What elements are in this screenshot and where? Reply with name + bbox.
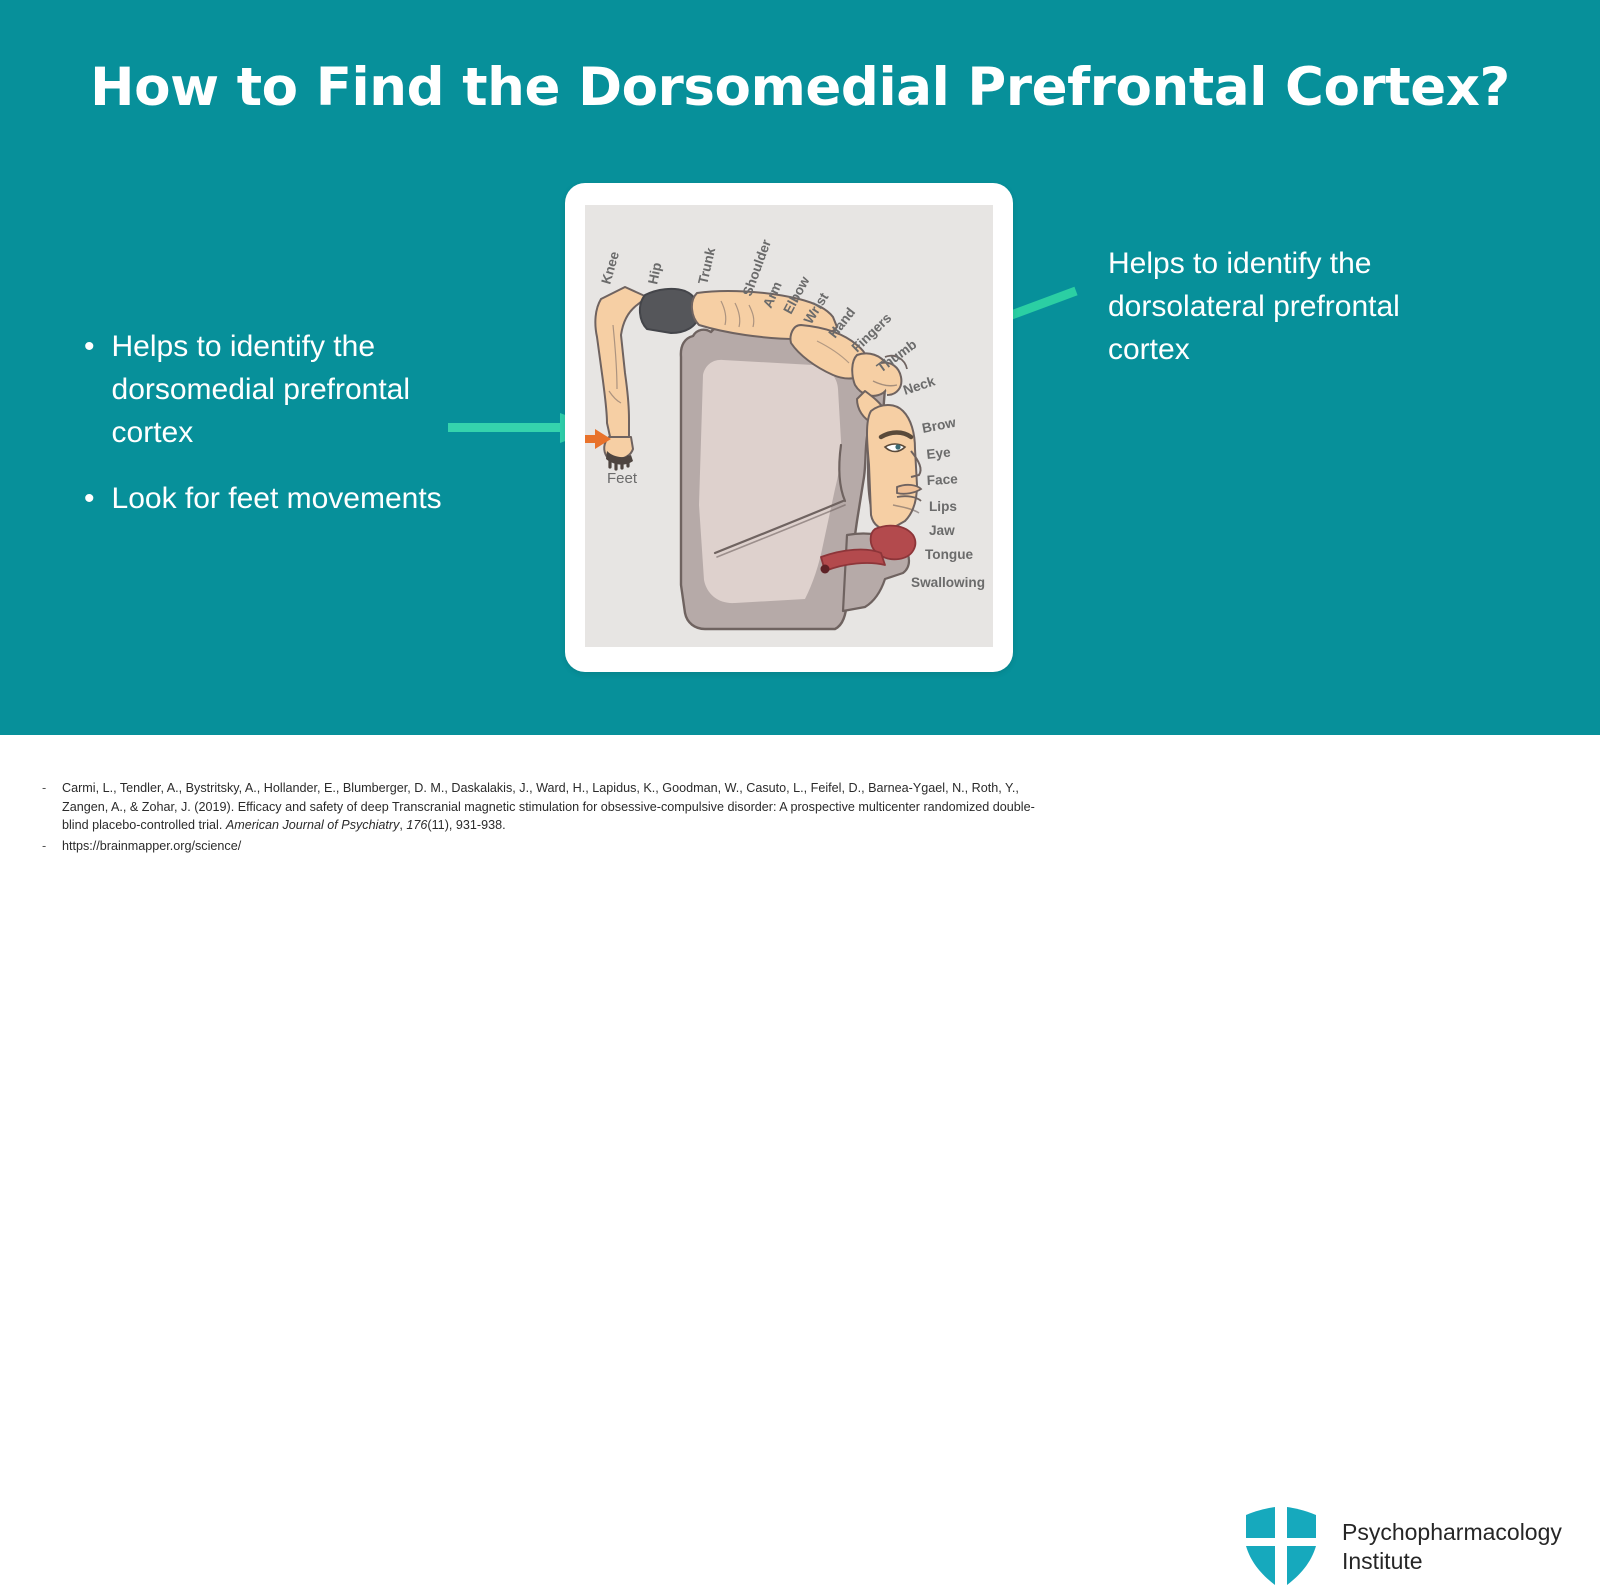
references-block: - Carmi, L., Tendler, A., Bystritsky, A.… — [42, 779, 1052, 858]
label-lips: Lips — [929, 499, 957, 514]
list-item: • Look for feet movements — [84, 477, 484, 520]
label-feet: Feet — [607, 470, 638, 487]
bullet-icon: • — [84, 477, 95, 520]
citation-volume: 176 — [406, 818, 427, 832]
slide-root: How to Find the Dorsomedial Prefrontal C… — [0, 0, 1600, 899]
label-swallowing: Swallowing — [911, 575, 985, 590]
reference-item: - https://brainmapper.org/science/ — [42, 837, 1052, 856]
bullet-text: Look for feet movements — [112, 477, 484, 520]
reference-dash: - — [42, 779, 52, 835]
label-jaw: Jaw — [929, 523, 955, 538]
brand-name: Psychopharmacology Institute — [1342, 1518, 1562, 1577]
figure-card: Knee Hip Trunk Shoulder Arm Elbow Wrist … — [565, 183, 1013, 672]
list-item: • Helps to identify the dorsomedial pref… — [84, 325, 484, 455]
figure-panel: Knee Hip Trunk Shoulder Arm Elbow Wrist … — [585, 205, 993, 647]
reference-url[interactable]: https://brainmapper.org/science/ — [62, 837, 1052, 856]
cortical-homunculus-figure: Knee Hip Trunk Shoulder Arm Elbow Wrist … — [585, 205, 993, 647]
bullet-icon: • — [84, 325, 95, 368]
bullet-text: Helps to identify the dorsomedial prefro… — [112, 325, 484, 455]
citation-pages: (11), 931-938. — [427, 818, 505, 832]
brand-name-line1: Psychopharmacology — [1342, 1518, 1562, 1547]
label-face: Face — [926, 471, 958, 488]
reference-item: - Carmi, L., Tendler, A., Bystritsky, A.… — [42, 779, 1052, 835]
brand-logo: Psychopharmacology Institute — [1242, 1505, 1562, 1589]
page-title: How to Find the Dorsomedial Prefrontal C… — [0, 58, 1600, 118]
citation-journal: American Journal of Psychiatry — [226, 818, 400, 832]
slide-footer: - Carmi, L., Tendler, A., Bystritsky, A.… — [0, 735, 1600, 899]
brand-name-line2: Institute — [1342, 1547, 1562, 1576]
shield-logo-icon — [1242, 1505, 1320, 1589]
label-eye: Eye — [926, 444, 952, 461]
right-caption-text: Helps to identify the dorsolateral prefr… — [1108, 242, 1438, 372]
label-tongue: Tongue — [925, 547, 974, 562]
reference-dash: - — [42, 837, 52, 856]
left-bullet-list: • Helps to identify the dorsomedial pref… — [84, 325, 484, 542]
citation-authors-title: Carmi, L., Tendler, A., Bystritsky, A., … — [62, 781, 1035, 832]
reference-citation: Carmi, L., Tendler, A., Bystritsky, A., … — [62, 779, 1052, 835]
